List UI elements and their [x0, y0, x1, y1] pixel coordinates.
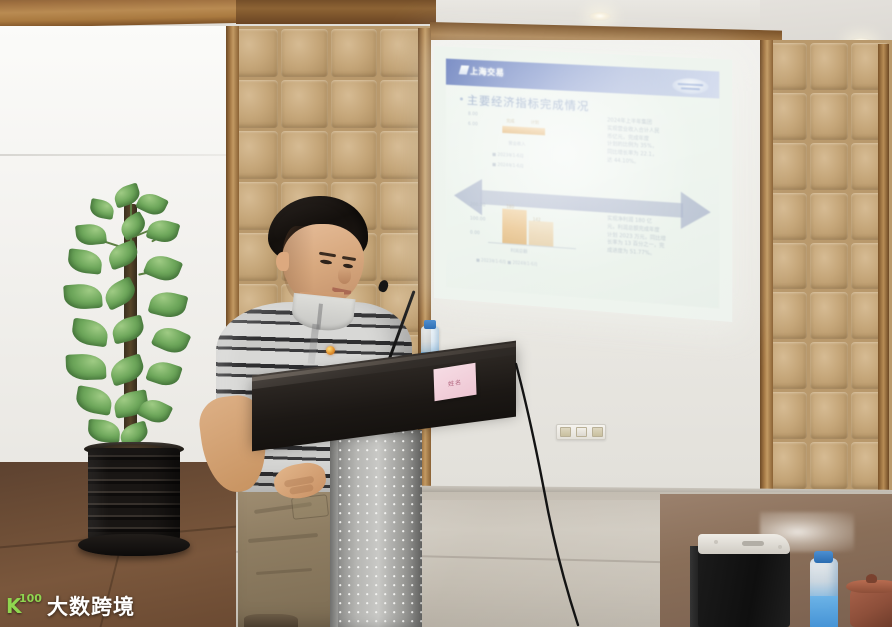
chart-bottom-bar-0: [502, 209, 526, 245]
leaf: [63, 283, 103, 311]
lapel-badge-pin: [326, 346, 335, 355]
speaker-box-handle: [742, 541, 764, 546]
chart-top-caption-1: ■ 2023年1-6月: [492, 151, 524, 159]
ceiling-downlight-icon: [589, 12, 611, 21]
watermark: K 100 大数跨境: [6, 591, 135, 621]
watermark-logo-icon: K 100: [6, 593, 42, 619]
leaf: [148, 288, 189, 321]
presentation-photo: 上海交易 主要经济指标完成情况 8.00 6.00 完成 计划 营业收入 ■ 2…: [0, 0, 892, 627]
speaker-box-screw: [714, 540, 718, 544]
leaf: [67, 248, 103, 274]
floor-bottle-label: [810, 596, 838, 627]
chart-bottom-ytick-1: 100.00: [470, 216, 485, 222]
wood-beam-middle: [236, 0, 436, 24]
wood-pilaster: [878, 44, 889, 492]
chart-bottom-bar-1: [529, 221, 554, 247]
chart-top-series-label-1: 计划: [531, 119, 539, 126]
chart-bottom-value-label-1: 142: [533, 217, 541, 223]
shoe: [244, 614, 298, 627]
podium-perforated-column: [338, 430, 422, 627]
slide-logo-mark: [459, 65, 470, 74]
acoustic-panel-wall-right: [766, 40, 892, 492]
nose: [338, 268, 351, 284]
chart-bottom-ytick-2: 0.00: [470, 231, 480, 237]
watermark-text: 大数跨境: [47, 591, 135, 621]
ceramic-pot-knob: [866, 574, 877, 583]
slide-text-block-top: 2024年上半年集团 实现营业收入合计人民 币亿元，完成年度 计划的比例为 35…: [607, 117, 700, 170]
slide-text-block-bottom: 实现净利润 180 亿 元，利润总额完成年度 计划 2023 万元，同比增 长率…: [607, 216, 700, 262]
podium-bottle-cap: [424, 320, 436, 329]
bullet-icon: [460, 97, 463, 100]
speaker-name-card: 姓名: [433, 363, 476, 401]
slide-logo: 上海交易: [460, 65, 504, 78]
leaf: [66, 353, 107, 380]
leaf: [117, 211, 150, 241]
floor-bottle-cap: [814, 551, 833, 563]
chart-bottom: 200.00 100.00 0.00 180 142 利润总额 ■ 2023年1…: [470, 202, 593, 274]
planter-saucer: [78, 534, 190, 556]
chart-top-bar: [502, 126, 545, 136]
chart-bottom-xlabel: 利润总额: [510, 248, 527, 255]
ear: [276, 252, 289, 271]
leaf: [70, 318, 109, 348]
chart-top: 8.00 6.00 完成 计划 营业收入 ■ 2023年1-6月 ■ 2024年…: [468, 112, 588, 182]
leaf: [87, 419, 120, 443]
chart-top-ytick-1: 6.00: [468, 122, 478, 128]
leaf: [75, 222, 107, 246]
watermark-logo-number: 100: [19, 593, 42, 604]
leaf: [74, 385, 114, 416]
leaf: [89, 198, 116, 220]
black-planter: [88, 448, 180, 546]
chart-bottom-legend: ■ 2023年1-6月 ■ 2024年1-6月: [476, 257, 538, 268]
leaf: [143, 251, 184, 286]
chart-top-ytick-0: 8.00: [468, 112, 478, 118]
chart-top-caption-0: 营业收入: [508, 140, 525, 147]
slide-title-text: 主要经济指标完成情况: [467, 94, 589, 114]
slide-title: 主要经济指标完成情况: [460, 91, 589, 114]
projection-screen: 上海交易 主要经济指标完成情况 8.00 6.00 完成 计划 营业收入 ■ 2…: [434, 46, 732, 322]
chart-bottom-ytick-0: 200.00: [470, 202, 485, 208]
leaf: [107, 353, 147, 386]
leaf: [145, 358, 183, 390]
chart-top-caption-2: ■ 2024年1-6月: [492, 162, 524, 170]
presentation-slide: 上海交易 主要经济指标完成情况 8.00 6.00 完成 计划 营业收入 ■ 2…: [446, 59, 719, 309]
chart-top-series-label-0: 完成: [506, 118, 514, 125]
chart-bottom-value-label-0: 180: [506, 204, 514, 210]
leaf: [151, 322, 192, 358]
speaker-box-screw: [778, 545, 782, 549]
leaf: [110, 314, 147, 344]
slide-logo-text: 上海交易: [470, 67, 504, 78]
wall-socket-panel: [556, 424, 606, 440]
wood-pilaster: [760, 40, 773, 492]
